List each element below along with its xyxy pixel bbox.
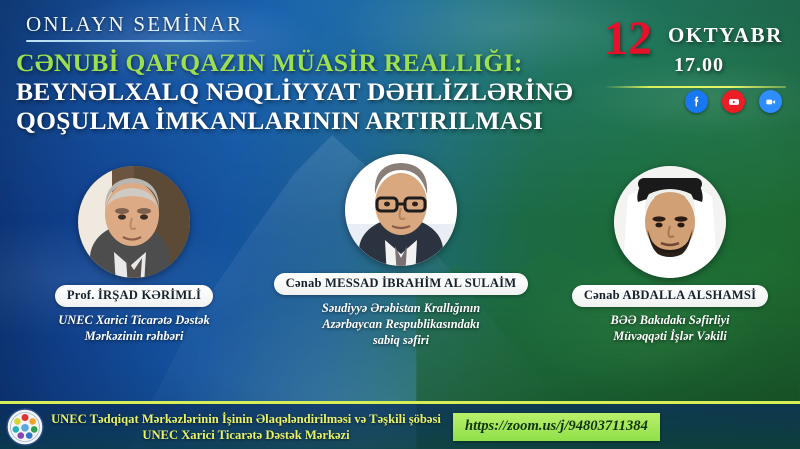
speaker-name: Cənab ABDALLA ALSHAMSİ (572, 285, 768, 307)
speaker-name: Cənab MESSAD İBRAHİM AL SULAİM (274, 273, 529, 295)
speaker-role: Səudiyyə Ərəbistan Krallığının Azərbayca… (266, 300, 536, 348)
kicker-block: ONLAYN SEMİNAR (26, 12, 276, 42)
title-line-1: CƏNUBİ QAFQAZIN MÜASİR REALLIĞI: (16, 48, 636, 77)
avatar (78, 166, 190, 278)
page-title: CƏNUBİ QAFQAZIN MÜASİR REALLIĞI: BEYNƏLX… (16, 48, 636, 135)
title-line-2: BEYNƏLXALQ NƏQLİYYAT DƏHLİZLƏRİNƏ (16, 77, 636, 106)
youtube-icon[interactable] (722, 90, 745, 113)
footer-line-2: UNEC Xarici Ticarətə Dəstək Mərkəzi (51, 427, 441, 443)
webinar-poster: ONLAYN SEMİNAR CƏNUBİ QAFQAZIN MÜASİR RE… (0, 0, 800, 449)
zoom-icon[interactable] (759, 90, 782, 113)
footer-line-1: UNEC Tədqiqat Mərkəzlərinin İşinin Əlaqə… (51, 411, 441, 427)
date-day: 12 (604, 14, 652, 64)
date-time: 17.00 (674, 54, 724, 77)
social-links (685, 90, 782, 113)
speaker-role-line: Azərbaycan Respublikasındakı (266, 316, 536, 332)
speaker-role-line: sabiq səfiri (266, 332, 536, 348)
avatar (345, 154, 457, 266)
speaker-role-line: Müvəqqəti İşlər Vəkili (540, 328, 800, 344)
zoom-meeting-link[interactable]: https://zoom.us/j/94803711384 (453, 413, 660, 441)
speaker-role-line: Səudiyyə Ərəbistan Krallığının (266, 300, 536, 316)
date-block: 12 OKTYABR 17.00 (602, 14, 788, 92)
speaker-card: Prof. İRŞAD KƏRİMLİ UNEC Xarici Ticarətə… (0, 166, 268, 344)
speaker-role-line: BƏƏ Bakıdakı Səfirliyi (540, 312, 800, 328)
facebook-icon[interactable] (685, 90, 708, 113)
speaker-role-line: Mərkəzinin rəhbəri (0, 328, 268, 344)
speaker-role-line: UNEC Xarici Ticarətə Dəstək (0, 312, 268, 328)
title-line-3: QOŞULMA İMKANLARININ ARTIRILMASI (16, 106, 636, 135)
speaker-card: Cənab ABDALLA ALSHAMSİ BƏƏ Bakıdakı Səfi… (540, 166, 800, 344)
footer-banner: UNEC Tədqiqat Mərkəzlərinin İşinin Əlaqə… (0, 401, 800, 449)
date-underline (604, 86, 786, 88)
date-month: OKTYABR (668, 23, 783, 48)
speaker-role: UNEC Xarici Ticarətə Dəstək Mərkəzinin r… (0, 312, 268, 344)
footer-organizer: UNEC Tədqiqat Mərkəzlərinin İşinin Əlaqə… (51, 411, 441, 443)
kicker-label: ONLAYN SEMİNAR (26, 12, 276, 37)
speaker-name: Prof. İRŞAD KƏRİMLİ (55, 285, 213, 307)
avatar (614, 166, 726, 278)
kicker-underline (26, 40, 258, 42)
speaker-card: Cənab MESSAD İBRAHİM AL SULAİM Səudiyyə … (266, 154, 536, 348)
unec-logo-icon (5, 407, 45, 447)
speaker-role: BƏƏ Bakıdakı Səfirliyi Müvəqqəti İşlər V… (540, 312, 800, 344)
